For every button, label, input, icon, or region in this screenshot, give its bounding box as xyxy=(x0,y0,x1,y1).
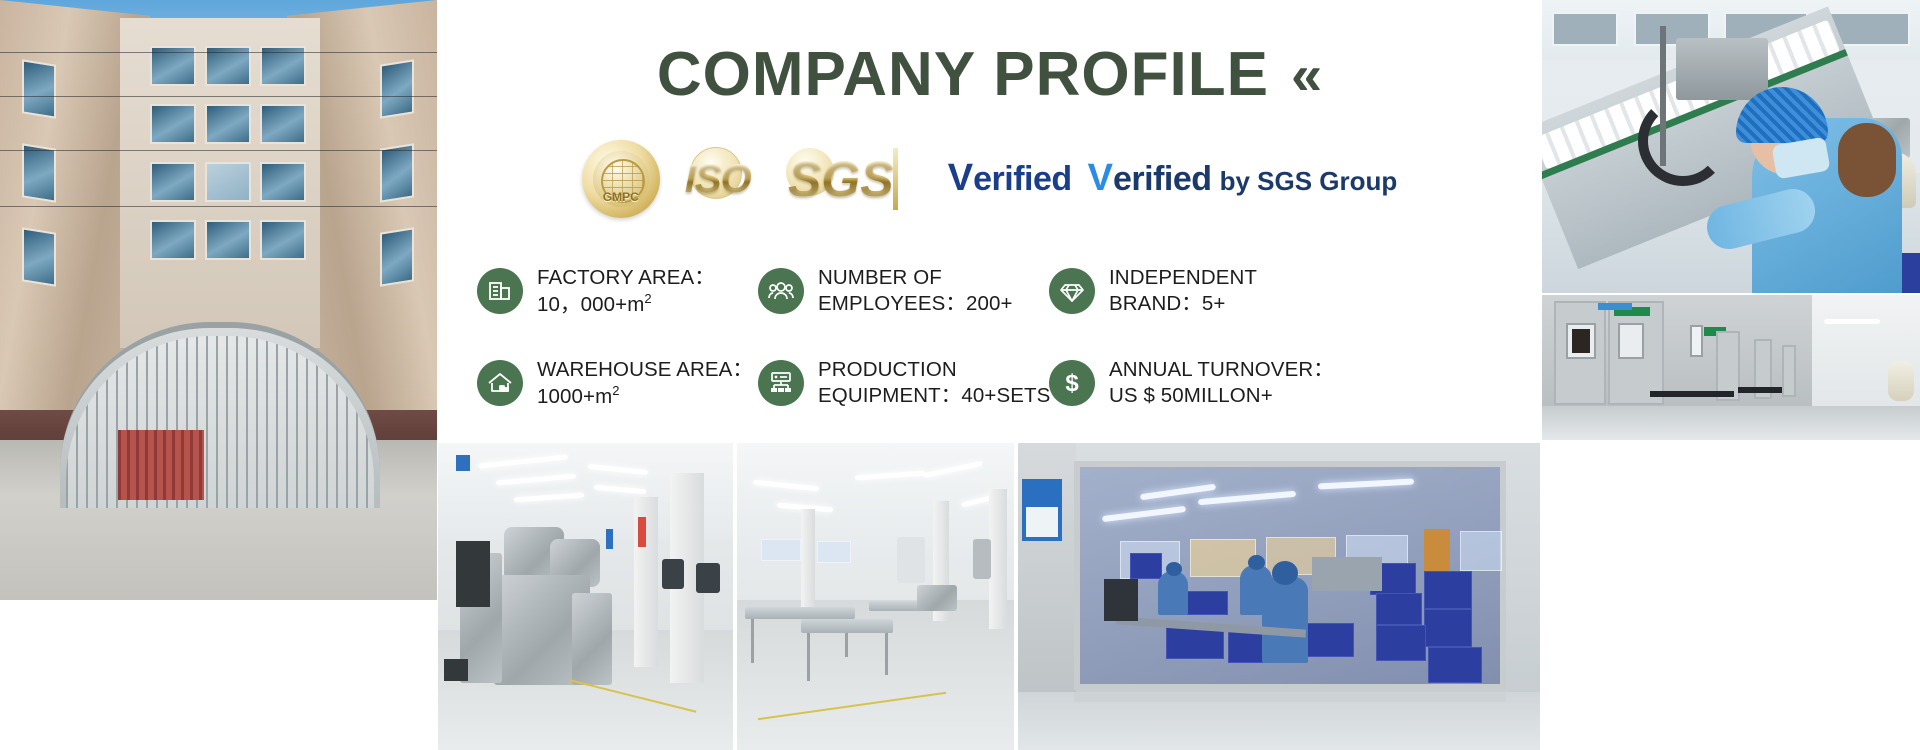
wall-sign xyxy=(638,517,646,547)
stat-value: 1000+ xyxy=(537,384,595,407)
stat-line-2: EMPLOYEES：200+ xyxy=(818,291,1013,317)
table-leg xyxy=(751,619,754,663)
stat-independent-brand: INDEPENDENT BRAND：5+ xyxy=(1049,252,1309,330)
stat-label: ANNUAL TURNOVER： US $ 50MILLON+ xyxy=(1109,357,1334,409)
diamond-brand-icon xyxy=(1049,268,1095,314)
photo-cleanroom-corridor xyxy=(1542,295,1920,440)
wall-notice xyxy=(1598,303,1632,310)
gmpc-seal-icon: GMPC xyxy=(582,140,660,218)
ceiling-light xyxy=(1318,478,1414,489)
stat-label: FACTORY AREA： 10，000+m2 xyxy=(537,265,715,317)
worker xyxy=(1262,577,1308,663)
window xyxy=(260,104,306,144)
equipment-panel xyxy=(444,659,468,681)
stat-unit-sup: 2 xyxy=(612,383,619,398)
photo-factory-gate-building xyxy=(0,0,437,600)
corridor-tank xyxy=(1888,361,1914,401)
worker xyxy=(1158,571,1188,615)
power-wire xyxy=(0,150,437,151)
blue-crate xyxy=(1376,625,1426,661)
verified-suffix-label: by SGS Group xyxy=(1220,166,1398,197)
stat-line-1: PRODUCTION xyxy=(818,358,957,381)
observation-glass-window xyxy=(1074,461,1506,690)
cert-gmpc: GMPC xyxy=(582,140,660,218)
power-wire xyxy=(0,206,437,207)
employees-group-icon xyxy=(758,268,804,314)
cert-sgs: SGS xyxy=(776,146,906,212)
stat-unit: m xyxy=(627,292,644,315)
stat-factory-area: FACTORY AREA： 10，000+m2 xyxy=(477,252,722,330)
cert-iso: ISO xyxy=(672,147,764,211)
ceiling-window xyxy=(1552,12,1618,46)
photo-empty-cleanroom-hall xyxy=(737,443,1014,750)
window xyxy=(380,227,414,286)
power-wire xyxy=(0,96,437,97)
cert-iso-label: ISO xyxy=(685,157,751,202)
check-v-icon: V xyxy=(948,159,973,197)
window xyxy=(150,104,196,144)
company-profile-banner: COMPANY PROFILE « GMPC ISO SGS xyxy=(0,0,1920,750)
verified-badges: V erified V erified by SGS Group xyxy=(948,159,1398,199)
control-panel xyxy=(1104,579,1138,621)
window xyxy=(150,162,196,202)
wall-window xyxy=(817,541,851,563)
wall-door xyxy=(973,539,991,579)
pillar xyxy=(989,489,1007,629)
table-leg xyxy=(885,633,888,675)
ceiling-light xyxy=(1102,506,1186,522)
wall-window xyxy=(761,539,801,561)
window xyxy=(260,220,306,260)
window xyxy=(22,59,56,118)
equipment-panel xyxy=(456,541,490,607)
stat-line-1: NUMBER OF xyxy=(818,266,942,289)
work-table xyxy=(745,607,855,619)
blue-crate xyxy=(1428,647,1482,683)
worker-head xyxy=(1272,561,1298,585)
stat-unit: m xyxy=(595,384,612,407)
window xyxy=(22,227,56,286)
power-wire xyxy=(0,52,437,53)
stat-line-2: EQUIPMENT：40+SETS xyxy=(818,383,1050,409)
sgs-gold-bar xyxy=(893,148,898,210)
photo-production-equipment-room xyxy=(438,443,733,750)
blue-crate xyxy=(1424,571,1472,609)
factory-building-icon xyxy=(477,268,523,314)
stat-line-2: 10，000+m2 xyxy=(537,291,715,318)
wall-sign xyxy=(606,529,613,549)
stat-value: 10，000+ xyxy=(537,292,627,315)
door-viewport xyxy=(1618,323,1644,359)
corridor-floor xyxy=(1542,406,1920,440)
wall-window xyxy=(662,559,684,589)
verified-badge-2: V erified by SGS Group xyxy=(1088,159,1398,199)
stat-line-2: BRAND：5+ xyxy=(1109,291,1257,317)
verified-badge-1: V erified xyxy=(948,159,1072,199)
title-row: COMPANY PROFILE « xyxy=(437,44,1542,106)
stat-label: WAREHOUSE AREA： 1000+m2 xyxy=(537,357,753,409)
photo-worker-bottling-line xyxy=(1542,0,1920,293)
inner-window xyxy=(1460,531,1502,571)
stat-label: PRODUCTION EQUIPMENT：40+SETS xyxy=(818,357,1050,409)
ceiling-light xyxy=(1824,319,1880,324)
window xyxy=(380,143,414,202)
double-chevron-left-icon: « xyxy=(1291,47,1322,103)
equipment-body xyxy=(572,593,612,685)
work-table xyxy=(801,619,893,633)
dollar-turnover-icon: $ xyxy=(1049,360,1095,406)
machine-hose xyxy=(1638,96,1728,186)
stats-grid: FACTORY AREA： 10，000+m2 NUMBER OF EMPLOY… xyxy=(477,252,1517,422)
ceiling-light xyxy=(1198,491,1296,506)
worker-head xyxy=(1166,562,1182,576)
window xyxy=(260,162,306,202)
production-equipment-icon xyxy=(758,360,804,406)
stat-number-of-employees: NUMBER OF EMPLOYEES：200+ xyxy=(758,252,1013,330)
check-v-icon: V xyxy=(1088,159,1113,197)
door-viewport-dark xyxy=(1572,329,1590,353)
wall-door xyxy=(897,537,925,583)
svg-text:$: $ xyxy=(1065,370,1079,397)
equipment-body xyxy=(1312,557,1382,591)
blue-crate xyxy=(1130,553,1162,579)
verified-label: erified xyxy=(1113,160,1212,199)
stat-annual-turnover: $ ANNUAL TURNOVER： US $ 50MILLON+ xyxy=(1049,344,1309,422)
cert-sgs-label: SGS xyxy=(788,150,894,208)
blue-crate xyxy=(1376,593,1422,625)
wall-sign xyxy=(456,455,470,471)
window xyxy=(380,59,414,118)
wall-notice-board xyxy=(1026,507,1058,537)
center-content: COMPANY PROFILE « GMPC ISO SGS xyxy=(437,0,1542,443)
gate-bars xyxy=(66,336,374,508)
page-title: COMPANY PROFILE xyxy=(657,44,1269,106)
worker-head xyxy=(1248,555,1265,570)
photo-packing-workshop xyxy=(1018,443,1540,750)
stat-line-1: ANNUAL TURNOVER： xyxy=(1109,358,1334,381)
wall-notice xyxy=(1690,325,1703,357)
stat-line-1: WAREHOUSE AREA： xyxy=(537,358,753,381)
stat-warehouse-area: WAREHOUSE AREA： 1000+m2 xyxy=(477,344,722,422)
stat-line-1: FACTORY AREA： xyxy=(537,266,715,289)
stat-label: NUMBER OF EMPLOYEES：200+ xyxy=(818,265,1013,317)
verified-label: erified xyxy=(973,160,1072,199)
window xyxy=(205,162,251,202)
machine-head xyxy=(1676,38,1768,100)
stat-unit-sup: 2 xyxy=(644,291,651,306)
gmpc-seal-inner: GMPC xyxy=(593,151,649,207)
stat-production-equipment: PRODUCTION EQUIPMENT：40+SETS xyxy=(758,344,1013,422)
glass-bottom-sill xyxy=(1074,692,1506,702)
stat-label: INDEPENDENT BRAND：5+ xyxy=(1109,265,1257,317)
window xyxy=(205,220,251,260)
cert-gmpc-label: GMPC xyxy=(603,190,639,204)
wall-window xyxy=(696,563,720,593)
door-kickplate xyxy=(1650,391,1734,397)
equipment-body xyxy=(917,585,957,611)
gate-red-panel xyxy=(118,430,204,500)
table-leg xyxy=(807,633,810,681)
window xyxy=(150,220,196,260)
stat-line-2: 1000+m2 xyxy=(537,383,753,410)
pillar xyxy=(801,509,815,619)
cleanroom-door xyxy=(1782,345,1796,397)
window xyxy=(22,143,56,202)
door-kickplate xyxy=(1738,387,1782,393)
certification-logos: GMPC ISO SGS V erified V xyxy=(437,140,1542,218)
window xyxy=(205,104,251,144)
stat-line-2: US $ 50MILLON+ xyxy=(1109,383,1334,409)
blue-crate xyxy=(1424,609,1472,647)
warehouse-house-icon xyxy=(477,360,523,406)
stat-line-1: INDEPENDENT xyxy=(1109,266,1257,289)
worker-hair xyxy=(1838,123,1896,197)
